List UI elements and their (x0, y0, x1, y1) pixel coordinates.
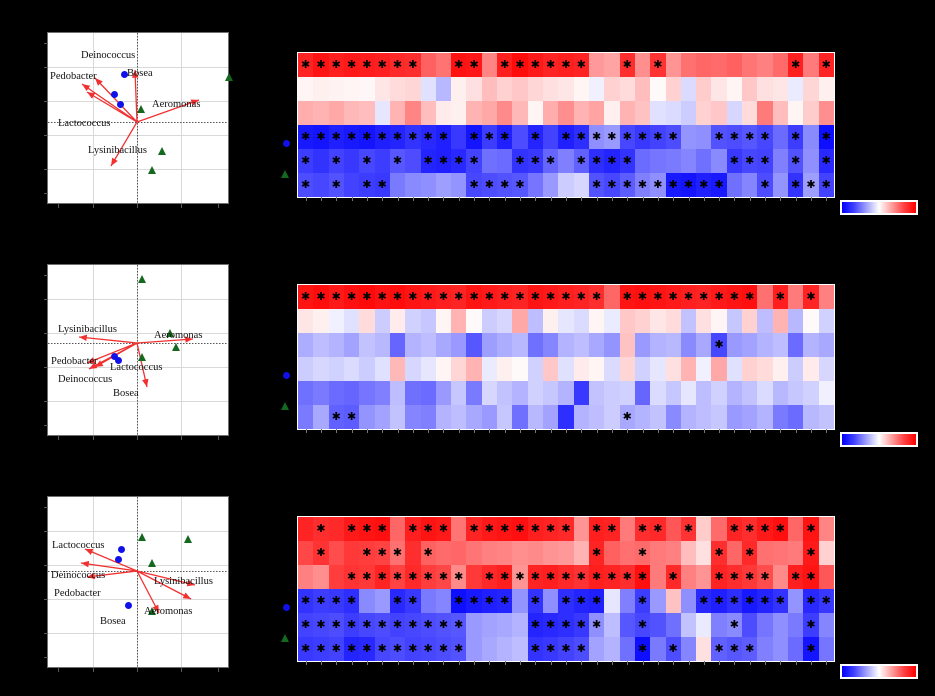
heatmap-cell[interactable] (574, 333, 589, 357)
heatmap-cell[interactable]: ✱ (329, 53, 344, 77)
heatmap-cell[interactable]: ✱ (528, 53, 543, 77)
heatmap-cell[interactable]: ✱ (711, 333, 726, 357)
heatmap-cell[interactable] (574, 173, 589, 197)
heatmap-cell[interactable] (528, 541, 543, 565)
heatmap-cell[interactable]: ✱ (589, 613, 604, 637)
heatmap-cell[interactable] (650, 77, 665, 101)
heatmap-cell[interactable] (696, 541, 711, 565)
heatmap-cell[interactable]: ✱ (298, 173, 313, 197)
heatmap-cell[interactable] (757, 333, 772, 357)
heatmap-cell[interactable]: ✱ (482, 125, 497, 149)
heatmap-cell[interactable] (742, 333, 757, 357)
heatmap-cell[interactable] (405, 173, 420, 197)
heatmap-cell[interactable]: ✱ (512, 517, 527, 541)
heatmap-cell[interactable] (773, 149, 788, 173)
heatmap-cell[interactable]: ✱ (558, 517, 573, 541)
heatmap-cell[interactable]: ✱ (650, 125, 665, 149)
heatmap-cell[interactable] (512, 405, 527, 429)
heatmap-cell[interactable] (482, 333, 497, 357)
heatmap-cell[interactable]: ✱ (313, 637, 328, 661)
heatmap-cell[interactable] (390, 517, 405, 541)
heatmap-cell[interactable] (681, 149, 696, 173)
heatmap-cell[interactable]: ✱ (635, 541, 650, 565)
heatmap-cell[interactable]: ✱ (313, 517, 328, 541)
heatmap-cell[interactable] (405, 357, 420, 381)
heatmap-cell[interactable]: ✱ (298, 589, 313, 613)
heatmap-cell[interactable] (727, 101, 742, 125)
heatmap-cell[interactable]: ✱ (574, 53, 589, 77)
heatmap-cell[interactable] (711, 613, 726, 637)
heatmap-cell[interactable] (589, 309, 604, 333)
heatmap-cell[interactable]: ✱ (313, 541, 328, 565)
heatmap-cell[interactable]: ✱ (803, 637, 818, 661)
heatmap-cell[interactable]: ✱ (313, 613, 328, 637)
heatmap-cell[interactable] (773, 333, 788, 357)
heatmap-cell[interactable] (558, 101, 573, 125)
heatmap-cell[interactable]: ✱ (742, 517, 757, 541)
heatmap-cell[interactable]: ✱ (421, 149, 436, 173)
heatmap-cell[interactable] (421, 101, 436, 125)
heatmap-cell[interactable]: ✱ (757, 517, 772, 541)
heatmap-cell[interactable] (819, 77, 834, 101)
heatmap-cell[interactable]: ✱ (313, 589, 328, 613)
heatmap-cell[interactable] (650, 381, 665, 405)
heatmap-cell[interactable] (620, 357, 635, 381)
heatmap-cell[interactable] (436, 77, 451, 101)
heatmap-cell[interactable] (390, 173, 405, 197)
heatmap-cell[interactable] (589, 637, 604, 661)
heatmap-cell[interactable]: ✱ (482, 173, 497, 197)
heatmap-cell[interactable]: ✱ (558, 637, 573, 661)
heatmap-cell[interactable] (757, 101, 772, 125)
heatmap-cell[interactable] (620, 541, 635, 565)
heatmap-cell[interactable] (390, 77, 405, 101)
heatmap-cell[interactable]: ✱ (543, 517, 558, 541)
heatmap-cell[interactable]: ✱ (543, 565, 558, 589)
heatmap-cell[interactable] (558, 77, 573, 101)
heatmap-cell[interactable] (757, 77, 772, 101)
heatmap-cell[interactable]: ✱ (558, 613, 573, 637)
heatmap-cell[interactable]: ✱ (512, 53, 527, 77)
heatmap-cell[interactable]: ✱ (359, 517, 374, 541)
heatmap-cell[interactable] (482, 381, 497, 405)
heatmap-cell[interactable]: ✱ (421, 637, 436, 661)
heatmap-cell[interactable] (696, 405, 711, 429)
heatmap-cell[interactable] (313, 173, 328, 197)
heatmap-cell[interactable] (681, 125, 696, 149)
heatmap-cell[interactable]: ✱ (589, 589, 604, 613)
heatmap-cell[interactable] (543, 173, 558, 197)
heatmap-cell[interactable] (757, 357, 772, 381)
heatmap-cell[interactable] (512, 589, 527, 613)
heatmap-cell[interactable]: ✱ (375, 637, 390, 661)
heatmap-cell[interactable] (375, 357, 390, 381)
heatmap-cell[interactable] (696, 637, 711, 661)
heatmap-cell[interactable]: ✱ (329, 405, 344, 429)
heatmap-cell[interactable] (650, 565, 665, 589)
heatmap-cell[interactable] (773, 125, 788, 149)
heatmap-cell[interactable] (604, 333, 619, 357)
heatmap-cell[interactable]: ✱ (727, 589, 742, 613)
heatmap-cell[interactable]: ✱ (528, 589, 543, 613)
heatmap-cell[interactable] (773, 53, 788, 77)
heatmap-cell[interactable] (773, 405, 788, 429)
heatmap-cell[interactable] (604, 589, 619, 613)
heatmap-cell[interactable]: ✱ (727, 565, 742, 589)
heatmap-cell[interactable]: ✱ (711, 565, 726, 589)
heatmap-cell[interactable]: ✱ (390, 613, 405, 637)
heatmap-cell[interactable] (421, 381, 436, 405)
heatmap-cell[interactable] (696, 309, 711, 333)
heatmap-cell[interactable]: ✱ (298, 285, 313, 309)
heatmap-cell[interactable]: ✱ (773, 517, 788, 541)
heatmap-cell[interactable]: ✱ (497, 589, 512, 613)
heatmap-cell[interactable] (375, 589, 390, 613)
heatmap-cell[interactable]: ✱ (528, 149, 543, 173)
heatmap-cell[interactable]: ✱ (390, 53, 405, 77)
heatmap-cell[interactable] (466, 101, 481, 125)
heatmap-cell[interactable]: ✱ (329, 637, 344, 661)
heatmap-cell[interactable]: ✱ (497, 53, 512, 77)
heatmap-cell[interactable]: ✱ (359, 173, 374, 197)
heatmap-cell[interactable]: ✱ (359, 149, 374, 173)
heatmap-cell[interactable]: ✱ (405, 637, 420, 661)
heatmap-cell[interactable] (681, 405, 696, 429)
heatmap-cell[interactable] (666, 357, 681, 381)
heatmap-cell[interactable] (711, 53, 726, 77)
heatmap-cell[interactable] (512, 125, 527, 149)
heatmap-cell[interactable] (773, 541, 788, 565)
heatmap-cell[interactable]: ✱ (436, 149, 451, 173)
heatmap-cell[interactable] (773, 173, 788, 197)
heatmap-cell[interactable] (696, 357, 711, 381)
heatmap-cell[interactable] (681, 77, 696, 101)
heatmap-cell[interactable] (757, 637, 772, 661)
heatmap-cell[interactable]: ✱ (528, 285, 543, 309)
heatmap-cell[interactable] (650, 357, 665, 381)
heatmap-cell[interactable] (543, 589, 558, 613)
heatmap-cell[interactable] (696, 101, 711, 125)
heatmap-cell[interactable] (497, 357, 512, 381)
heatmap-cell[interactable]: ✱ (788, 565, 803, 589)
heatmap-cell[interactable]: ✱ (650, 173, 665, 197)
heatmap-cell[interactable]: ✱ (650, 285, 665, 309)
heatmap-cell[interactable]: ✱ (558, 53, 573, 77)
heatmap-cell[interactable] (497, 381, 512, 405)
heatmap-cell[interactable] (589, 357, 604, 381)
heatmap-cell[interactable]: ✱ (543, 149, 558, 173)
heatmap-cell[interactable] (528, 101, 543, 125)
heatmap-cell[interactable]: ✱ (681, 517, 696, 541)
heatmap-cell[interactable] (788, 613, 803, 637)
heatmap-cell[interactable]: ✱ (727, 149, 742, 173)
heatmap-cell[interactable]: ✱ (819, 149, 834, 173)
heatmap-cell[interactable] (788, 637, 803, 661)
heatmap-cell[interactable] (666, 613, 681, 637)
heatmap-cell[interactable] (819, 637, 834, 661)
heatmap-cell[interactable]: ✱ (558, 125, 573, 149)
heatmap-cell[interactable]: ✱ (711, 541, 726, 565)
heatmap-cell[interactable] (727, 381, 742, 405)
heatmap-cell[interactable]: ✱ (405, 613, 420, 637)
heatmap-cell[interactable] (466, 405, 481, 429)
heatmap-cell[interactable]: ✱ (819, 589, 834, 613)
heatmap-cell[interactable]: ✱ (620, 405, 635, 429)
heatmap-cell[interactable] (589, 381, 604, 405)
heatmap-cell[interactable] (803, 405, 818, 429)
heatmap-cell[interactable] (666, 405, 681, 429)
heatmap-cell[interactable] (574, 541, 589, 565)
heatmap-cell[interactable] (375, 309, 390, 333)
heatmap-cell[interactable]: ✱ (711, 173, 726, 197)
heatmap-cell[interactable] (329, 77, 344, 101)
heatmap-cell[interactable] (788, 101, 803, 125)
heatmap-cell[interactable] (757, 53, 772, 77)
heatmap-cell[interactable] (482, 613, 497, 637)
heatmap-cell[interactable] (589, 53, 604, 77)
heatmap-cell[interactable] (711, 77, 726, 101)
heatmap-cell[interactable] (497, 613, 512, 637)
heatmap-cell[interactable]: ✱ (466, 517, 481, 541)
heatmap-cell[interactable]: ✱ (696, 173, 711, 197)
heatmap-cell[interactable]: ✱ (558, 285, 573, 309)
heatmap-cell[interactable] (482, 101, 497, 125)
heatmap-cell[interactable]: ✱ (620, 565, 635, 589)
heatmap-cell[interactable]: ✱ (436, 517, 451, 541)
heatmap-cell[interactable] (482, 53, 497, 77)
heatmap-cell[interactable] (666, 149, 681, 173)
heatmap-cell[interactable] (620, 637, 635, 661)
heatmap-cell[interactable] (742, 173, 757, 197)
heatmap-cell[interactable] (727, 53, 742, 77)
heatmap-cell[interactable] (344, 333, 359, 357)
heatmap-cell[interactable] (819, 381, 834, 405)
heatmap-cell[interactable] (635, 405, 650, 429)
heatmap-cell[interactable] (436, 309, 451, 333)
heatmap-cell[interactable] (650, 101, 665, 125)
heatmap-cell[interactable] (788, 589, 803, 613)
heatmap-cell[interactable]: ✱ (620, 173, 635, 197)
heatmap-cell[interactable]: ✱ (359, 285, 374, 309)
heatmap-cell[interactable]: ✱ (497, 125, 512, 149)
heatmap-cell[interactable] (620, 381, 635, 405)
heatmap-cell[interactable] (620, 101, 635, 125)
heatmap-cell[interactable]: ✱ (819, 125, 834, 149)
heatmap-cell[interactable] (497, 77, 512, 101)
heatmap-cell[interactable]: ✱ (466, 125, 481, 149)
heatmap-cell[interactable]: ✱ (344, 517, 359, 541)
heatmap-cell[interactable] (803, 77, 818, 101)
heatmap-cell[interactable] (711, 101, 726, 125)
heatmap-cell[interactable] (696, 613, 711, 637)
heatmap-cell[interactable] (666, 101, 681, 125)
heatmap-cell[interactable]: ✱ (528, 517, 543, 541)
heatmap-cell[interactable] (528, 357, 543, 381)
heatmap-cell[interactable]: ✱ (620, 149, 635, 173)
heatmap-cell[interactable] (497, 149, 512, 173)
heatmap-cell[interactable] (803, 125, 818, 149)
heatmap-cell[interactable]: ✱ (466, 285, 481, 309)
heatmap-cell[interactable] (512, 101, 527, 125)
heatmap-cell[interactable]: ✱ (543, 53, 558, 77)
heatmap-cell[interactable]: ✱ (375, 125, 390, 149)
heatmap-cell[interactable] (298, 357, 313, 381)
heatmap-cell[interactable] (313, 357, 328, 381)
heatmap-cell[interactable] (727, 77, 742, 101)
heatmap-cell[interactable]: ✱ (635, 637, 650, 661)
heatmap-cell[interactable]: ✱ (497, 517, 512, 541)
heatmap-cell[interactable]: ✱ (727, 517, 742, 541)
heatmap-cell[interactable]: ✱ (436, 637, 451, 661)
heatmap-cell[interactable] (803, 53, 818, 77)
heatmap-cell[interactable] (742, 77, 757, 101)
heatmap-cell[interactable] (390, 405, 405, 429)
heatmap-cell[interactable] (788, 517, 803, 541)
heatmap-cell[interactable] (742, 53, 757, 77)
heatmap-cell[interactable] (451, 541, 466, 565)
heatmap-cell[interactable] (436, 381, 451, 405)
heatmap-cell[interactable] (543, 333, 558, 357)
heatmap-cell[interactable] (497, 333, 512, 357)
heatmap-cell[interactable] (711, 517, 726, 541)
heatmap-cell[interactable] (390, 333, 405, 357)
heatmap-cell[interactable]: ✱ (421, 565, 436, 589)
heatmap-cell[interactable] (512, 77, 527, 101)
heatmap-cell[interactable] (298, 517, 313, 541)
heatmap-cell[interactable] (298, 565, 313, 589)
heatmap-cell[interactable] (375, 381, 390, 405)
heatmap-cell[interactable]: ✱ (497, 173, 512, 197)
heatmap-cell[interactable] (543, 101, 558, 125)
heatmap-cell[interactable]: ✱ (313, 53, 328, 77)
heatmap-cell[interactable]: ✱ (421, 285, 436, 309)
heatmap-cell[interactable]: ✱ (375, 285, 390, 309)
heatmap-cell[interactable]: ✱ (666, 285, 681, 309)
heatmap-cell[interactable] (421, 405, 436, 429)
heatmap-cell[interactable]: ✱ (390, 589, 405, 613)
heatmap-cell[interactable] (344, 77, 359, 101)
heatmap-cell[interactable] (681, 637, 696, 661)
heatmap-cell[interactable] (466, 381, 481, 405)
heatmap-cell[interactable] (466, 637, 481, 661)
heatmap-cell[interactable] (344, 149, 359, 173)
heatmap-cell[interactable]: ✱ (390, 125, 405, 149)
heatmap-cell[interactable] (574, 405, 589, 429)
heatmap-cell[interactable] (574, 381, 589, 405)
heatmap-cell[interactable]: ✱ (819, 53, 834, 77)
heatmap-cell[interactable]: ✱ (359, 613, 374, 637)
heatmap-cell[interactable] (650, 333, 665, 357)
heatmap-cell[interactable]: ✱ (574, 125, 589, 149)
heatmap-cell[interactable] (421, 309, 436, 333)
heatmap-cell[interactable]: ✱ (543, 637, 558, 661)
heatmap-cell[interactable]: ✱ (466, 589, 481, 613)
heatmap-cell[interactable] (313, 101, 328, 125)
heatmap-cell[interactable]: ✱ (742, 149, 757, 173)
heatmap-cell[interactable]: ✱ (574, 149, 589, 173)
heatmap-cell[interactable] (666, 589, 681, 613)
heatmap-cell[interactable] (650, 613, 665, 637)
heatmap-cell[interactable] (329, 565, 344, 589)
heatmap-cell[interactable]: ✱ (803, 285, 818, 309)
heatmap-cell[interactable] (620, 589, 635, 613)
heatmap-cell[interactable]: ✱ (604, 517, 619, 541)
heatmap-cell[interactable] (405, 77, 420, 101)
heatmap-cell[interactable] (482, 357, 497, 381)
heatmap-cell[interactable]: ✱ (436, 125, 451, 149)
heatmap-cell[interactable] (727, 541, 742, 565)
heatmap-cell[interactable] (773, 381, 788, 405)
heatmap-cell[interactable]: ✱ (620, 125, 635, 149)
heatmap-cell[interactable] (711, 405, 726, 429)
heatmap-cell[interactable] (650, 541, 665, 565)
heatmap-cell[interactable] (757, 309, 772, 333)
heatmap-cell[interactable] (558, 309, 573, 333)
heatmap-cell[interactable]: ✱ (589, 285, 604, 309)
heatmap-cell[interactable] (696, 125, 711, 149)
heatmap-cell[interactable] (620, 517, 635, 541)
heatmap-cell[interactable] (773, 565, 788, 589)
heatmap-cell[interactable]: ✱ (390, 285, 405, 309)
heatmap-cell[interactable] (329, 309, 344, 333)
heatmap-cell[interactable]: ✱ (803, 517, 818, 541)
heatmap-cell[interactable] (497, 637, 512, 661)
heatmap-cell[interactable] (742, 357, 757, 381)
heatmap-cell[interactable]: ✱ (451, 589, 466, 613)
heatmap-cell[interactable] (359, 357, 374, 381)
heatmap-cell[interactable] (635, 333, 650, 357)
heatmap-cell[interactable]: ✱ (681, 285, 696, 309)
heatmap-cell[interactable] (313, 77, 328, 101)
heatmap-cell[interactable]: ✱ (344, 405, 359, 429)
heatmap-cell[interactable]: ✱ (375, 53, 390, 77)
heatmap-cell[interactable]: ✱ (589, 173, 604, 197)
heatmap-cell[interactable] (543, 381, 558, 405)
heatmap-cell[interactable]: ✱ (666, 565, 681, 589)
heatmap-cell[interactable]: ✱ (329, 125, 344, 149)
heatmap-cell[interactable] (405, 381, 420, 405)
heatmap-cell[interactable] (512, 357, 527, 381)
heatmap-cell[interactable] (390, 357, 405, 381)
heatmap-cell[interactable] (451, 173, 466, 197)
heatmap-cell[interactable]: ✱ (421, 541, 436, 565)
heatmap-cell[interactable]: ✱ (390, 565, 405, 589)
heatmap-cell[interactable] (466, 613, 481, 637)
heatmap-cell[interactable] (375, 333, 390, 357)
heatmap-cell[interactable]: ✱ (451, 149, 466, 173)
heatmap-cell[interactable]: ✱ (635, 517, 650, 541)
heatmap-cell[interactable] (727, 333, 742, 357)
heatmap-cell[interactable] (313, 381, 328, 405)
heatmap-cell[interactable] (620, 77, 635, 101)
heatmap-cell[interactable] (681, 333, 696, 357)
heatmap-cell[interactable] (451, 125, 466, 149)
heatmap-cell[interactable] (390, 101, 405, 125)
heatmap-cell[interactable] (681, 309, 696, 333)
heatmap-cell[interactable] (620, 309, 635, 333)
heatmap-cell[interactable]: ✱ (344, 53, 359, 77)
heatmap-cell[interactable] (666, 541, 681, 565)
heatmap-cell[interactable] (681, 381, 696, 405)
heatmap-cell[interactable] (696, 149, 711, 173)
heatmap-cell[interactable]: ✱ (666, 173, 681, 197)
heatmap-cell[interactable] (451, 77, 466, 101)
heatmap-cell[interactable] (344, 357, 359, 381)
heatmap-cell[interactable] (819, 405, 834, 429)
heatmap-cell[interactable]: ✱ (635, 565, 650, 589)
heatmap-cell[interactable]: ✱ (543, 613, 558, 637)
heatmap-cell[interactable] (313, 149, 328, 173)
